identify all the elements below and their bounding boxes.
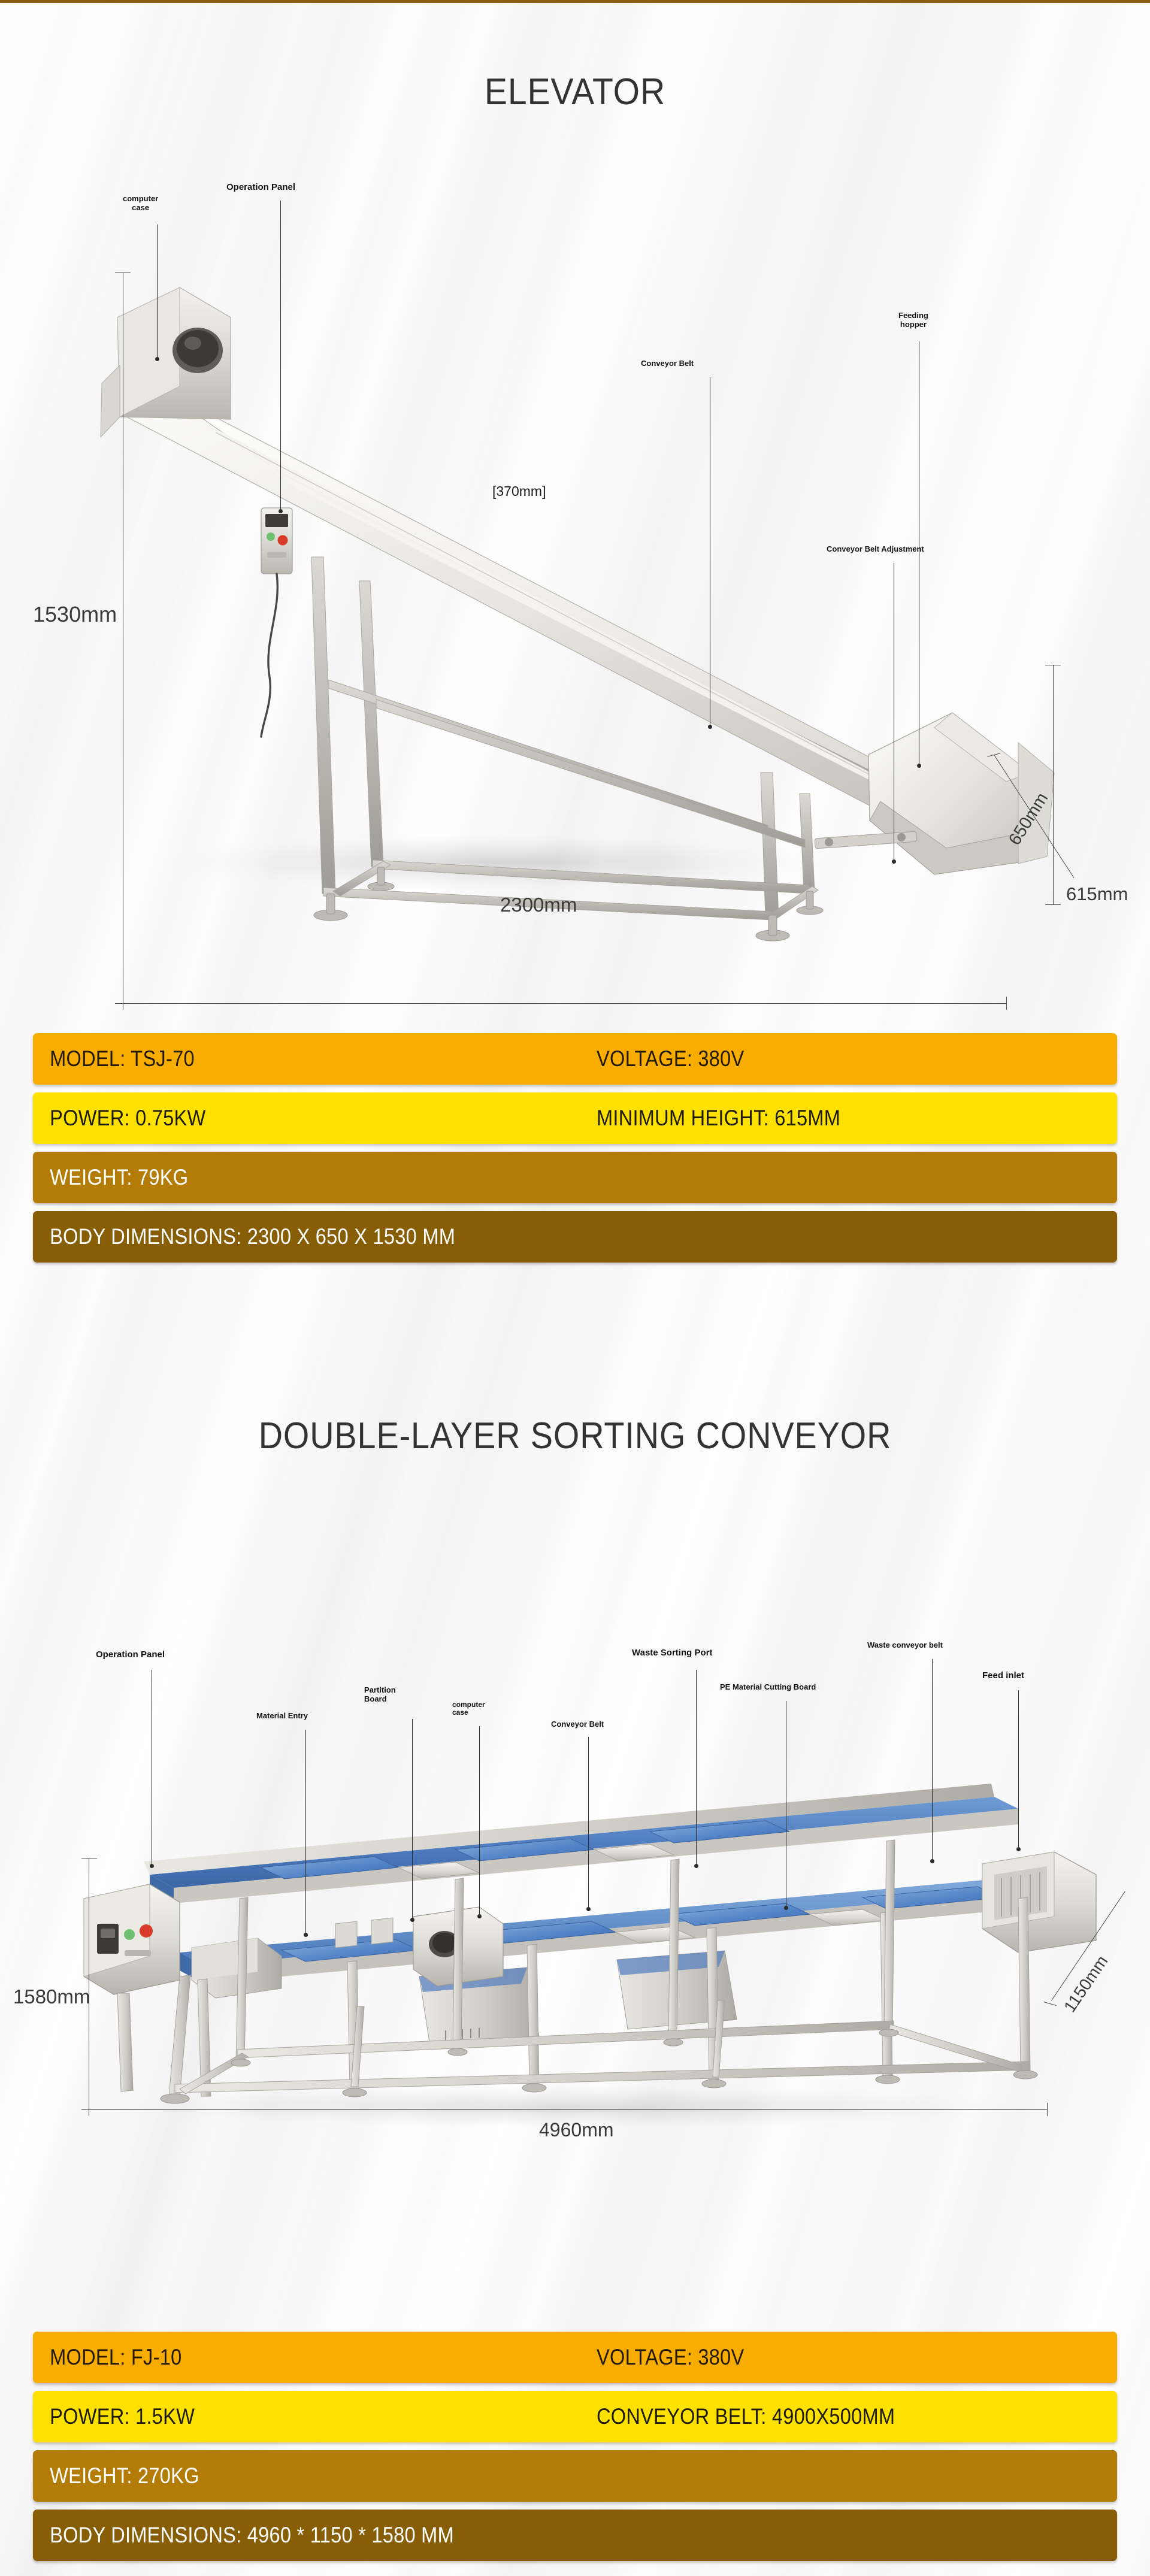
callout-conv-operation-panel: Operation Panel xyxy=(96,1650,165,1660)
callout-feed-inlet: Feed inlet xyxy=(982,1671,1024,1681)
leader-dot-pe-material-cutting-board xyxy=(784,1906,788,1910)
dim-line-elevator-length xyxy=(123,1003,1006,1004)
page-title-elevator: ELEVATOR xyxy=(46,71,1104,113)
spec-row-power-minheight: POWER: 0.75KW MINIMUM HEIGHT: 615MM xyxy=(33,1092,1117,1144)
leader-operation-panel xyxy=(280,201,281,512)
callout-belt-width: [370mm] xyxy=(492,484,546,500)
leader-dot-conv-conveyor-belt xyxy=(586,1907,591,1911)
conveyor-diagram: Operation Panel Material Entry Partition… xyxy=(0,1617,1150,2156)
leader-conv-computer-case xyxy=(479,1726,480,1918)
callout-partition-board: Partition Board xyxy=(364,1686,396,1703)
dim-line-conveyor-height xyxy=(89,1858,89,2109)
leader-waste-sorting-port xyxy=(696,1670,697,1867)
spec-row-weight: WEIGHT: 79KG xyxy=(33,1152,1117,1203)
spec-weight: WEIGHT: 270KG xyxy=(33,2463,529,2489)
callout-computer-case: computer case xyxy=(123,195,158,212)
spec-table-elevator: MODEL: TSJ-70 VOLTAGE: 380V POWER: 0.75K… xyxy=(33,1033,1117,1263)
dim-cap-conveyor-length-left xyxy=(89,2103,89,2116)
callout-pe-material-cutting-board: PE Material Cutting Board xyxy=(720,1683,816,1692)
leader-dot-waste-sorting-port xyxy=(694,1864,698,1868)
spec-min-height: MINIMUM HEIGHT: 615MM xyxy=(597,1106,1055,1131)
spec-power: POWER: 0.75KW xyxy=(33,1106,529,1131)
callout-conveyor-belt-adjustment: Conveyor Belt Adjustment xyxy=(827,545,924,554)
leader-conv-conveyor-belt xyxy=(588,1737,589,1911)
leader-waste-conveyor-belt xyxy=(932,1659,933,1863)
callout-conv-conveyor-belt: Conveyor Belt xyxy=(551,1720,604,1729)
callout-feeding-hopper: Feeding hopper xyxy=(898,311,928,329)
spec-body-dimensions: BODY DIMENSIONS: 4960 * 1150 * 1580 MM xyxy=(33,2523,987,2548)
spec-voltage: VOLTAGE: 380V xyxy=(597,1046,1055,1071)
dim-cap-elevator-length-right xyxy=(1006,997,1007,1010)
elevator-machine-illustration xyxy=(0,138,1150,946)
spec-row-body-dimensions: BODY DIMENSIONS: 4960 * 1150 * 1580 MM xyxy=(33,2510,1117,2561)
dim-cap-min-height-top xyxy=(1045,665,1061,665)
leader-dot-computer-case xyxy=(155,357,159,361)
dim-text-elevator-length: 2300mm xyxy=(500,894,577,916)
leader-partition-board xyxy=(412,1719,413,1921)
elevator-diagram: computer case Operation Panel Conveyor B… xyxy=(0,138,1150,946)
leader-dot-conv-operation-panel xyxy=(150,1864,154,1868)
spec-weight: WEIGHT: 79KG xyxy=(33,1165,529,1190)
dim-cap-elevator-length-left xyxy=(123,997,123,1010)
spec-row-body-dimensions: BODY DIMENSIONS: 2300 X 650 X 1530 MM xyxy=(33,1211,1117,1263)
callout-waste-conveyor-belt: Waste conveyor belt xyxy=(867,1641,943,1650)
callout-waste-sorting-port: Waste Sorting Port xyxy=(632,1648,712,1658)
spec-model: MODEL: TSJ-70 xyxy=(33,1046,529,1071)
spec-table-conveyor: MODEL: FJ-10 VOLTAGE: 380V POWER: 1.5KW … xyxy=(33,2332,1117,2561)
leader-conv-operation-panel xyxy=(152,1670,152,1867)
spec-row-power-belt: POWER: 1.5KW CONVEYOR BELT: 4900X500MM xyxy=(33,2391,1117,2442)
top-accent-bar xyxy=(0,0,1150,3)
spec-model: MODEL: FJ-10 xyxy=(33,2345,529,2370)
dim-cap-conveyor-length-right xyxy=(1047,2103,1048,2116)
callout-conv-computer-case: computer case xyxy=(452,1701,485,1717)
leader-material-entry xyxy=(305,1730,306,1936)
dim-line-elevator-min-height xyxy=(1053,665,1054,904)
spec-power: POWER: 1.5KW xyxy=(33,2404,529,2429)
spec-row-model-voltage: MODEL: TSJ-70 VOLTAGE: 380V xyxy=(33,1033,1117,1085)
leader-dot-operation-panel xyxy=(279,509,283,513)
dim-text-elevator-height: 1530mm xyxy=(33,602,117,627)
leader-conveyor-belt xyxy=(710,377,710,728)
leader-dot-material-entry xyxy=(304,1933,308,1937)
leader-dot-feed-inlet xyxy=(1016,1847,1021,1851)
leader-computer-case xyxy=(157,225,158,359)
page-title-conveyor: DOUBLE-LAYER SORTING CONVEYOR xyxy=(57,1415,1092,1457)
leader-dot-waste-conveyor-belt xyxy=(930,1859,934,1863)
spec-row-model-voltage: MODEL: FJ-10 VOLTAGE: 380V xyxy=(33,2332,1117,2383)
leader-dot-partition-board xyxy=(410,1918,414,1922)
spec-conveyor-belt: CONVEYOR BELT: 4900X500MM xyxy=(597,2404,1055,2429)
leader-feed-inlet xyxy=(1018,1690,1019,1851)
dim-cap-elevator-height-top xyxy=(115,273,131,273)
spec-voltage: VOLTAGE: 380V xyxy=(597,2345,1055,2370)
leader-dot-conveyor-belt xyxy=(708,725,712,729)
dim-line-conveyor-length xyxy=(89,2109,1047,2110)
dim-text-conveyor-length: 4960mm xyxy=(539,2119,614,2141)
conveyor-machine-illustration xyxy=(0,1617,1150,2156)
leader-feeding-hopper xyxy=(919,341,919,767)
callout-material-entry: Material Entry xyxy=(256,1712,308,1721)
dim-cap-conveyor-height-top xyxy=(81,1858,97,1858)
leader-conveyor-belt-adjustment xyxy=(894,563,894,862)
leader-dot-conv-computer-case xyxy=(477,1914,482,1918)
dim-text-elevator-min-height: 615mm xyxy=(1066,883,1128,905)
leader-dot-feeding-hopper xyxy=(917,764,921,768)
dim-line-elevator-height xyxy=(123,273,123,1003)
spec-row-weight: WEIGHT: 270KG xyxy=(33,2450,1117,2502)
callout-conveyor-belt: Conveyor Belt xyxy=(641,359,694,368)
dim-text-conveyor-height: 1580mm xyxy=(13,1985,90,2008)
dim-cap-min-height-bottom xyxy=(1045,904,1061,905)
spec-body-dimensions: BODY DIMENSIONS: 2300 X 650 X 1530 MM xyxy=(33,1224,987,1249)
leader-pe-material-cutting-board xyxy=(786,1701,786,1909)
leader-dot-conveyor-belt-adjustment xyxy=(892,859,896,864)
callout-operation-panel: Operation Panel xyxy=(226,183,295,193)
